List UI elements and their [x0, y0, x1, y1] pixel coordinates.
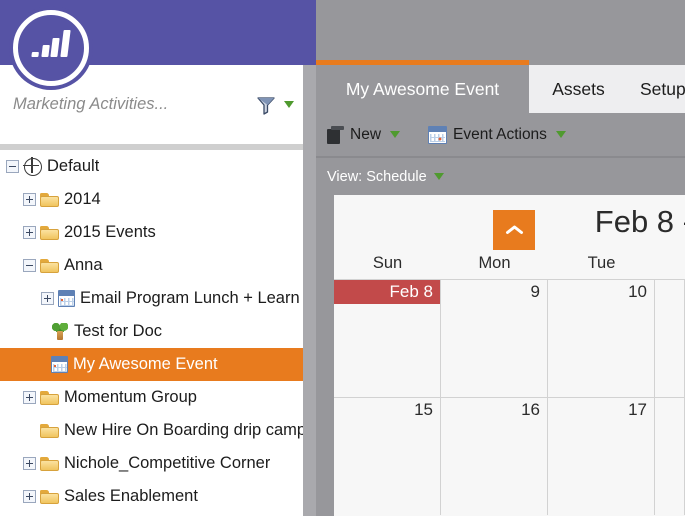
tree-item[interactable]: Nichole_Competitive Corner — [0, 447, 303, 480]
day-of-week-label-clipped — [655, 251, 685, 279]
calendar-week-row: Feb 8910 — [334, 279, 685, 397]
folder-icon — [40, 489, 59, 504]
calendar-weeks: Feb 8910151617 — [334, 279, 685, 516]
calendar-header: Feb 8 - — [334, 195, 685, 251]
left-scrollbar-thumb[interactable] — [303, 65, 316, 516]
tree-item[interactable]: My Awesome Event — [0, 348, 303, 381]
tab-bar: My Awesome Event Assets Setup — [316, 65, 685, 113]
tree-item[interactable]: Email Program Lunch + Learn — [0, 282, 303, 315]
tree-item-label: New Hire On Boarding drip campaign — [64, 421, 303, 440]
tree-item[interactable]: Anna — [0, 249, 303, 282]
tree-item-label: Default — [47, 157, 99, 176]
day-of-week-header: SunMonTue — [334, 251, 685, 279]
calendar-day-number: 9 — [531, 282, 540, 302]
tab-assets[interactable]: Assets — [529, 65, 628, 113]
event-actions-caret-down-icon[interactable] — [556, 131, 566, 138]
view-bar: View: Schedule — [316, 158, 685, 195]
calendar-day-cell-today[interactable]: Feb 8 — [334, 280, 441, 397]
tree-expander-minus-icon[interactable] — [23, 259, 36, 272]
calendar-day-number: 17 — [628, 400, 647, 420]
calendar-day-cell[interactable]: 16 — [441, 398, 548, 515]
toolbar: New Event Actions — [316, 113, 685, 156]
calendar-day-cell[interactable]: 15 — [334, 398, 441, 515]
tree-item[interactable]: New Hire On Boarding drip campaign — [0, 414, 303, 447]
tree-item-label: Sales Enablement — [64, 487, 198, 506]
tree-item-label: My Awesome Event — [73, 355, 218, 374]
tree-item[interactable]: 2015 Events — [0, 216, 303, 249]
main-panel: My Awesome Event Assets Setup New Event … — [316, 0, 685, 516]
tree-item-label: Momentum Group — [64, 388, 197, 407]
marketing-activities-tree[interactable]: Default20142015 EventsAnnaEmail Program … — [0, 150, 303, 516]
tree-item[interactable]: 2014 — [0, 183, 303, 216]
folder-icon — [40, 390, 59, 405]
tree-item-label: 2014 — [64, 190, 101, 209]
logo-bars-icon — [32, 30, 71, 57]
folder-icon — [40, 423, 59, 438]
funnel-icon[interactable] — [255, 94, 279, 116]
folder-icon — [40, 225, 59, 240]
calendar-day-number: 10 — [628, 282, 647, 302]
calendar-day-cell[interactable]: 17 — [548, 398, 655, 515]
folder-icon — [40, 192, 59, 207]
tree-item-label: Nichole_Competitive Corner — [64, 454, 270, 473]
day-of-week-label: Tue — [548, 251, 655, 279]
event-actions-calendar-icon — [428, 126, 447, 144]
calendar-day-number: Feb 8 — [390, 282, 433, 302]
event-actions-label: Event Actions — [453, 126, 547, 144]
chevron-up-icon — [505, 224, 524, 236]
folder-icon — [40, 456, 59, 471]
tree-item-label: 2015 Events — [64, 223, 156, 242]
calendar-day-cell-clipped[interactable] — [655, 280, 685, 397]
tree-expander-plus-icon[interactable] — [23, 457, 36, 470]
tree-item-label: Email Program Lunch + Learn — [80, 289, 300, 308]
calendar-day-number: 16 — [521, 400, 540, 420]
new-button-label: New — [350, 126, 381, 144]
folder-icon — [40, 258, 59, 273]
marketo-logo[interactable] — [9, 6, 93, 90]
tree-item-label: Anna — [64, 256, 103, 275]
calendar-icon — [51, 356, 68, 373]
new-caret-down-icon[interactable] — [390, 131, 400, 138]
day-of-week-label: Mon — [441, 251, 548, 279]
tree-expander-plus-icon[interactable] — [23, 226, 36, 239]
tree-item[interactable]: Test for Doc — [0, 315, 303, 348]
calendar-day-cell[interactable]: 10 — [548, 280, 655, 397]
collapse-toolbar-button[interactable] — [493, 210, 535, 250]
left-scrollbar-track[interactable] — [303, 65, 316, 516]
tree-item[interactable]: Default — [0, 150, 303, 183]
plant-icon — [51, 323, 69, 340]
calendar: Feb 8 - SunMonTue Feb 8910151617 — [334, 195, 685, 516]
calendar-range-title: Feb 8 - — [595, 204, 685, 240]
tree-expander-plus-icon[interactable] — [23, 193, 36, 206]
search-caret-down-icon[interactable] — [281, 94, 297, 116]
calendar-icon — [58, 290, 75, 307]
tree-item[interactable]: Sales Enablement — [0, 480, 303, 513]
tree-expander-plus-icon[interactable] — [23, 391, 36, 404]
tree-spacer — [23, 424, 36, 437]
calendar-day-cell[interactable]: 9 — [441, 280, 548, 397]
new-icon — [327, 126, 344, 144]
calendar-day-number: 15 — [414, 400, 433, 420]
tab-setup[interactable]: Setup — [628, 65, 685, 113]
tree-expander-minus-icon[interactable] — [6, 160, 19, 173]
view-caret-down-icon[interactable] — [434, 173, 444, 180]
tab-my-awesome-event[interactable]: My Awesome Event — [316, 65, 529, 113]
logo-ring — [13, 10, 89, 86]
globe-icon — [24, 158, 42, 176]
tree-expander-plus-icon[interactable] — [41, 292, 54, 305]
day-of-week-label: Sun — [334, 251, 441, 279]
event-actions-button[interactable]: Event Actions — [428, 126, 566, 144]
calendar-week-row: 151617 — [334, 397, 685, 515]
view-selector-label[interactable]: View: Schedule — [327, 169, 427, 185]
tree-item[interactable]: Momentum Group — [0, 381, 303, 414]
calendar-day-cell-clipped[interactable] — [655, 398, 685, 515]
tree-item-label: Test for Doc — [74, 322, 162, 341]
tree-expander-plus-icon[interactable] — [23, 490, 36, 503]
search-input[interactable] — [11, 94, 255, 115]
new-button[interactable]: New — [327, 126, 400, 144]
